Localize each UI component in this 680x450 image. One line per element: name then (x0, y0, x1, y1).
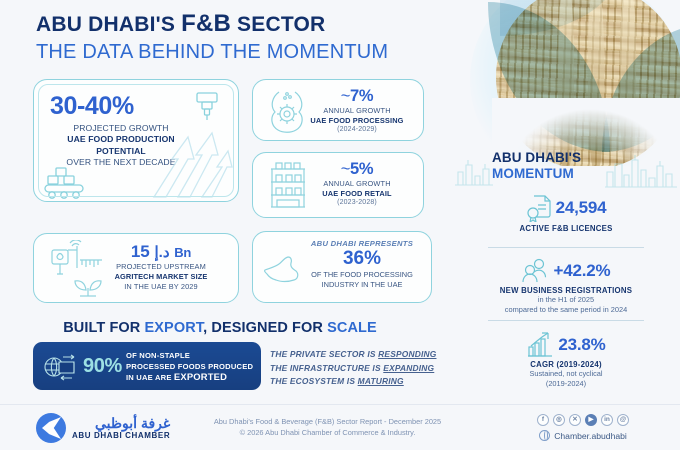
export-title-a: BUILT FOR (63, 320, 144, 336)
export-notes: THE PRIVATE SECTOR IS RESPONDING THE INF… (270, 348, 436, 389)
chamber-logo-mark (36, 413, 66, 443)
agritech-line-2: AGRITECH MARKET SIZE (92, 272, 230, 282)
card-food-production: 30-40% PROJECTED GROWTH UAE FOOD PRODUCT… (33, 79, 239, 202)
registrations-label: NEW BUSINESS REGISTRATIONS (460, 286, 672, 295)
stat-processing-growth: ~7% (301, 87, 413, 106)
stat-active-licences: 24,594 (556, 198, 607, 218)
export-banner-text: OF NON-STAPLE PROCESSED FOODS PRODUCED I… (126, 351, 253, 384)
processing-years: (2024-2029) (301, 125, 413, 135)
global-shipping-icon (43, 353, 77, 381)
momentum-title-line-1: ABU DHABI'S (492, 150, 581, 166)
skyline-left-icon (454, 156, 494, 186)
licence-document-icon (526, 194, 552, 222)
title-line-2: THE DATA BEHIND THE MOMENTUM (36, 41, 388, 64)
title-part-c: SECTOR (231, 13, 325, 36)
card-food-retail: ~5% ANNUAL GROWTH UAE FOOD RETAIL (2023-… (252, 152, 424, 218)
registrations-row: +42.2% (460, 258, 672, 284)
abu-dhabi-chamber-logo: غرفة أبوظبي ABU DHABI CHAMBER (36, 413, 170, 443)
agritech-line-1: PROJECTED UPSTREAM (92, 262, 230, 272)
agritech-unit: Bn (174, 245, 191, 260)
cagr-label: CAGR (2019-2024) (460, 360, 672, 369)
export-section-title: BUILT FOR EXPORT, DESIGNED FOR SCALE (0, 320, 440, 336)
export-note: THE PRIVATE SECTOR IS RESPONDING (270, 348, 436, 362)
card-agritech-market: د.إ 15 Bn PROJECTED UPSTREAM AGRITECH MA… (33, 233, 239, 303)
chamber-name-english: ABU DHABI CHAMBER (72, 431, 170, 440)
agritech-line-3: IN THE UAE BY 2029 (92, 282, 230, 292)
handle-text: Chamber.abudhabi (554, 431, 627, 441)
export-title-scale: SCALE (327, 320, 377, 336)
social-icon-row: f ◎ ✕ ▶ in @ (508, 414, 658, 426)
infographic-page: ABU DHABI'S F&B SECTOR THE DATA BEHIND T… (0, 0, 680, 450)
facebook-icon[interactable]: f (537, 414, 549, 426)
export-title-b: , DESIGNED FOR (203, 320, 327, 336)
card-food-processing: ~7% ANNUAL GROWTH UAE FOOD PROCESSING (2… (252, 79, 424, 141)
export-banner: 90% OF NON-STAPLE PROCESSED FOODS PRODUC… (33, 342, 261, 390)
title-line-1: ABU DHABI'S F&B SECTOR (36, 10, 388, 38)
stat-share-value: 36% (297, 248, 427, 270)
momentum-divider (488, 247, 644, 248)
card-processing-text: ~7% ANNUAL GROWTH UAE FOOD PROCESSING (2… (301, 87, 413, 135)
note-prefix: THE INFRASTRUCTURE IS (270, 363, 383, 373)
tilde-prefix: ~ (341, 87, 350, 105)
processing-line-2: UAE FOOD PROCESSING (301, 116, 413, 126)
processing-line-1: ANNUAL GROWTH (301, 106, 413, 116)
card-retail-text: ~5% ANNUAL GROWTH UAE FOOD RETAIL (2023-… (301, 160, 413, 208)
stat-retail-growth: ~5% (301, 160, 413, 179)
stat-new-registrations: +42.2% (554, 261, 611, 281)
retail-line-1: ANNUAL GROWTH (301, 179, 413, 189)
note-keyword: EXPANDING (383, 363, 434, 373)
cagr-note-1: Sustained, not cyclical (460, 369, 672, 379)
chamber-logo-text: غرفة أبوظبي ABU DHABI CHAMBER (72, 416, 170, 440)
cagr-note-2: (2019-2024) (460, 379, 672, 389)
cagr-row: 23.8% (460, 332, 672, 358)
export-line-3: IN UAE ARE EXPORTED (126, 372, 253, 384)
globe-icon (539, 430, 550, 441)
licences-row: 24,594 (460, 194, 672, 222)
card-abu-dhabi-share: ABU DHABI REPRESENTS 36% OF THE FOOD PRO… (252, 231, 432, 303)
share-line-2: INDUSTRY IN THE UAE (297, 280, 427, 290)
note-keyword: MATURING (358, 376, 404, 386)
note-prefix: THE PRIVATE SECTOR IS (270, 349, 378, 359)
stat-cagr: 23.8% (558, 335, 605, 355)
card-share-text: ABU DHABI REPRESENTS 36% OF THE FOOD PRO… (297, 239, 427, 289)
attribution-line-1: Abu Dhabi's Food & Beverage (F&B) Sector… (200, 416, 455, 427)
export-line-3a: IN UAE ARE (126, 373, 174, 382)
footer-divider (0, 404, 680, 405)
retail-years: (2023-2028) (301, 198, 413, 208)
linkedin-icon[interactable]: in (601, 414, 613, 426)
dirham-symbol: د.إ (154, 244, 169, 261)
instagram-icon[interactable]: ◎ (553, 414, 565, 426)
footer-attribution: Abu Dhabi's Food & Beverage (F&B) Sector… (200, 416, 455, 438)
social-links: f ◎ ✕ ▶ in @ Chamber.abudhabi (508, 414, 658, 441)
wheat-hero-image (452, 0, 680, 166)
growth-chart-icon (526, 332, 554, 358)
skyline-right-icon (604, 154, 678, 188)
momentum-item-cagr: 23.8% CAGR (2019-2024) Sustained, not cy… (460, 332, 672, 389)
threads-icon[interactable]: @ (617, 414, 629, 426)
processing-value: 7% (350, 87, 373, 105)
users-icon (522, 258, 550, 284)
momentum-title-line-2: MOMENTUM (492, 166, 581, 182)
momentum-title: ABU DHABI'S MOMENTUM (492, 150, 581, 182)
title-part-fnb: F&B (181, 10, 231, 37)
export-title-export: EXPORT (145, 320, 204, 336)
export-note: THE ECOSYSTEM IS MATURING (270, 375, 436, 389)
momentum-divider (488, 320, 644, 321)
export-line-1: OF NON-STAPLE (126, 351, 253, 362)
growth-arrows-icon (148, 125, 234, 199)
registrations-note-1: in the H1 of 2025 (460, 295, 672, 305)
card-agritech-text: د.إ 15 Bn PROJECTED UPSTREAM AGRITECH MA… (92, 242, 230, 291)
conveyor-belt-icon (44, 166, 108, 200)
attribution-line-2: © 2026 Abu Dhabi Chamber of Commerce & I… (200, 427, 455, 438)
registrations-note-2: compared to the same period in 2024 (460, 305, 672, 315)
chamber-name-arabic: غرفة أبوظبي (72, 416, 170, 431)
share-line-1: OF THE FOOD PROCESSING (297, 270, 427, 280)
website-handle[interactable]: Chamber.abudhabi (508, 430, 658, 441)
milling-machine-icon (190, 90, 224, 124)
momentum-item-registrations: +42.2% NEW BUSINESS REGISTRATIONS in the… (460, 258, 672, 315)
momentum-header: ABU DHABI'S MOMENTUM (452, 148, 680, 190)
x-twitter-icon[interactable]: ✕ (569, 414, 581, 426)
momentum-panel: ABU DHABI'S MOMENTUM (452, 148, 680, 410)
stat-production-growth: 30-40% (50, 92, 134, 121)
stat-agritech-value: د.إ 15 Bn (92, 242, 230, 262)
export-note: THE INFRASTRUCTURE IS EXPANDING (270, 362, 436, 376)
youtube-icon[interactable]: ▶ (585, 414, 597, 426)
momentum-item-licences: 24,594 ACTIVE F&B LICENCES (460, 194, 672, 233)
share-kicker: ABU DHABI REPRESENTS (297, 239, 427, 248)
title-part-a: ABU DHABI'S (36, 13, 181, 36)
retail-line-2: UAE FOOD RETAIL (301, 189, 413, 199)
stat-export-percent: 90% (83, 355, 122, 378)
note-prefix: THE ECOSYSTEM IS (270, 376, 358, 386)
note-keyword: RESPONDING (378, 349, 436, 359)
agritech-number: 15 (131, 242, 150, 261)
retail-value: 5% (350, 160, 373, 178)
licences-label: ACTIVE F&B LICENCES (460, 224, 672, 233)
page-title: ABU DHABI'S F&B SECTOR THE DATA BEHIND T… (36, 10, 388, 64)
tilde-prefix: ~ (341, 160, 350, 178)
export-line-3b: EXPORTED (174, 371, 227, 382)
